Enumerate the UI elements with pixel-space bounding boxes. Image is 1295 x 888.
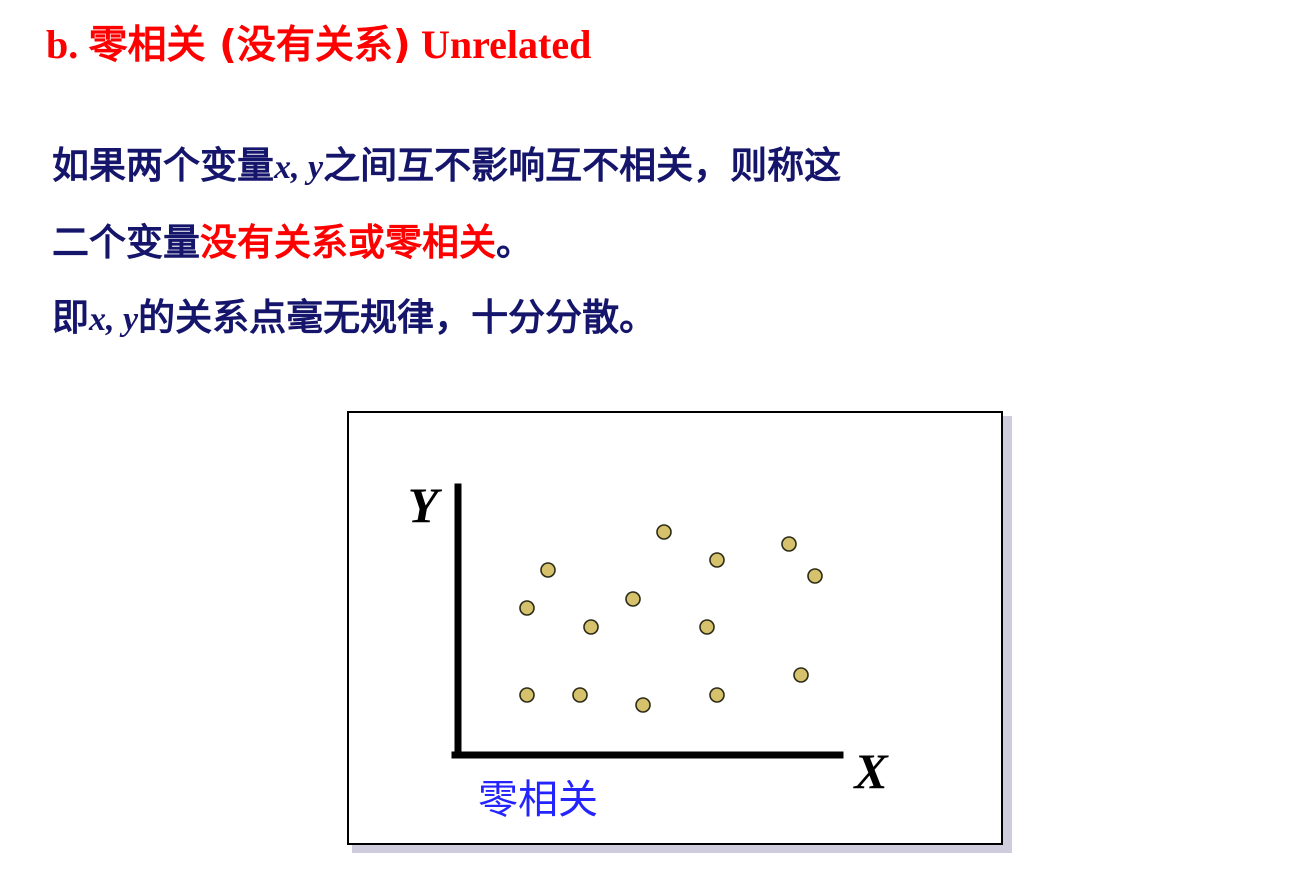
- scatter-chart-frame: Y X: [347, 411, 1003, 845]
- line3-variables: x, y: [89, 301, 138, 338]
- data-point: [584, 620, 598, 634]
- data-point: [626, 592, 640, 606]
- x-axis-label: X: [852, 743, 889, 799]
- data-point: [657, 525, 671, 539]
- line3-part2: 的关系点毫无规律，十分分散。: [138, 296, 656, 339]
- data-point: [808, 569, 822, 583]
- title-latin-text: Unrelated: [421, 22, 591, 67]
- page-title: b. 零相关 (没有关系) Unrelated: [46, 14, 591, 70]
- data-point: [710, 688, 724, 702]
- title-cjk-text: 零相关 (没有关系): [89, 23, 411, 68]
- line1-part1: 如果两个变量: [52, 144, 274, 187]
- body-line-3: 即x, y的关系点毫无规律，十分分散。: [52, 280, 1202, 357]
- y-axis-label: Y: [408, 477, 443, 533]
- data-point: [794, 668, 808, 682]
- data-points-layer: [520, 525, 822, 712]
- line1-variables: x, y: [274, 149, 323, 186]
- data-point: [520, 601, 534, 615]
- data-point: [710, 553, 724, 567]
- body-line-1: 如果两个变量x, y之间互不影响互不相关，则称这: [52, 128, 1202, 205]
- line2-part2: 。: [496, 221, 533, 264]
- line2-highlight: 没有关系或零相关: [200, 221, 496, 264]
- body-text-block: 如果两个变量x, y之间互不影响互不相关，则称这 二个变量没有关系或零相关。 即…: [52, 128, 1202, 357]
- title-marker: b.: [46, 22, 78, 67]
- data-point: [782, 537, 796, 551]
- scatter-plot: Y X: [349, 413, 1001, 843]
- body-line-2: 二个变量没有关系或零相关。: [52, 205, 1202, 280]
- data-point: [636, 698, 650, 712]
- line2-part1: 二个变量: [52, 221, 200, 264]
- line3-part1: 即: [52, 296, 89, 339]
- data-point: [700, 620, 714, 634]
- line1-part2: 之间互不影响互不相关，则称这: [323, 144, 841, 187]
- data-point: [520, 688, 534, 702]
- data-point: [573, 688, 587, 702]
- chart-caption: 零相关: [478, 767, 598, 825]
- data-point: [541, 563, 555, 577]
